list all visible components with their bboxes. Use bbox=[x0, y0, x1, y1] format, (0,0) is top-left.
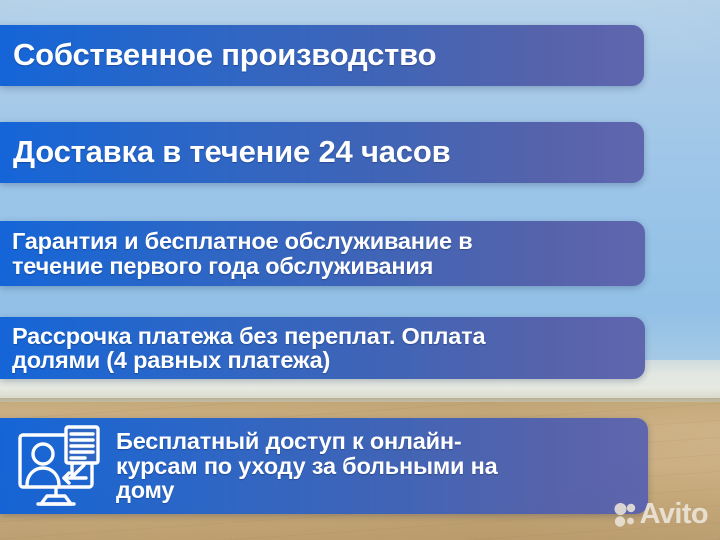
avito-dots-icon bbox=[614, 502, 636, 528]
feature-bar-installment: Рассрочка платежа без переплат. Оплата д… bbox=[0, 317, 645, 379]
feature-bar-label: Гарантия и бесплатное обслуживание в теч… bbox=[0, 229, 472, 278]
feature-bar-delivery-24h: Доставка в течение 24 часов bbox=[0, 122, 644, 183]
feature-bar-label: Бесплатный доступ к онлайн- курсам по ух… bbox=[110, 429, 498, 502]
feature-bar-own-production: Собственное производство bbox=[0, 25, 644, 86]
feature-bar-label: Доставка в течение 24 часов bbox=[0, 136, 450, 168]
feature-bar-label: Рассрочка платежа без переплат. Оплата д… bbox=[0, 324, 485, 373]
monitor-elearning-icon bbox=[14, 423, 110, 509]
avito-wordmark: Avito bbox=[640, 500, 708, 529]
feature-bar-label: Собственное производство bbox=[0, 39, 436, 71]
avito-watermark: Avito bbox=[614, 500, 708, 529]
feature-bar-warranty-year: Гарантия и бесплатное обслуживание в теч… bbox=[0, 221, 645, 286]
promo-banner: Собственное производство Доставка в тече… bbox=[0, 0, 720, 540]
feature-bar-online-courses: Бесплатный доступ к онлайн- курсам по ух… bbox=[0, 418, 648, 514]
